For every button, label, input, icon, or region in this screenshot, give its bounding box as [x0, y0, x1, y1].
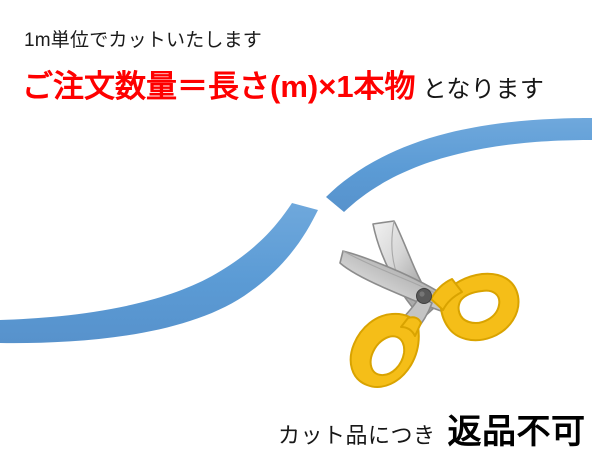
scissors-pivot-icon [417, 289, 432, 304]
scissors-handle-left [351, 314, 421, 387]
scissors-illustration [0, 0, 600, 466]
illustration-canvas: 1m単位でカットいたします ご注文数量＝長さ(m)×1本物となります カット品に… [0, 0, 600, 466]
scissors-handle-right [431, 274, 518, 340]
